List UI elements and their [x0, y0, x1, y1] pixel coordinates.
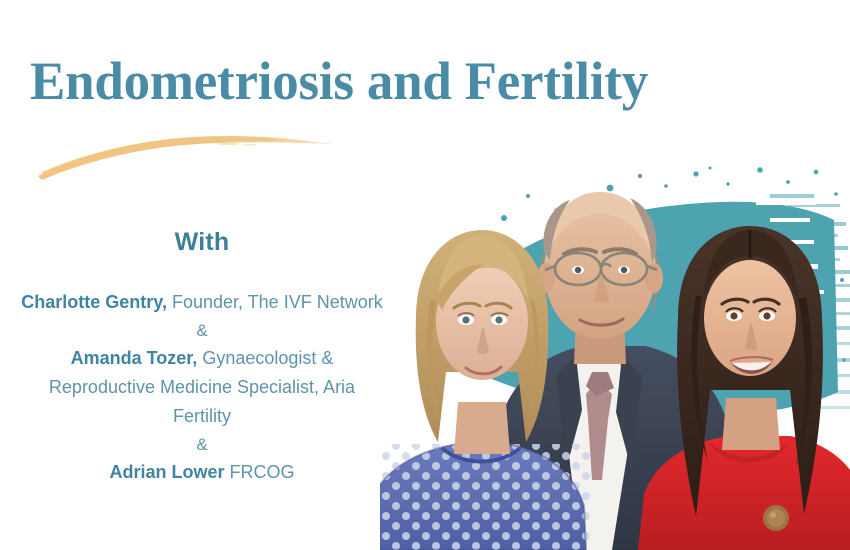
- speaker-item: Charlotte Gentry, Founder, The IVF Netwo…: [20, 288, 384, 317]
- speaker-role: Founder, The IVF Network: [167, 292, 383, 312]
- speaker-list: Charlotte Gentry, Founder, The IVF Netwo…: [20, 288, 384, 487]
- speakers-photo: [380, 150, 850, 550]
- yellow-brush-swash-icon: [32, 128, 352, 184]
- speaker-separator: &: [20, 317, 384, 344]
- speaker-name: Adrian Lower: [109, 462, 224, 482]
- speaker-role: FRCOG: [225, 462, 295, 482]
- presentation-slide: Endometriosis and Fertility: [0, 0, 850, 550]
- with-label: With: [36, 228, 368, 257]
- speaker-name: Charlotte Gentry,: [21, 292, 167, 312]
- speaker-name: Amanda Tozer,: [71, 348, 198, 368]
- speaker-separator: &: [20, 431, 384, 458]
- speaker-item: Adrian Lower FRCOG: [20, 458, 384, 487]
- speaker-item: Amanda Tozer, Gynaecologist & Reproducti…: [20, 344, 384, 431]
- page-title: Endometriosis and Fertility: [30, 52, 716, 110]
